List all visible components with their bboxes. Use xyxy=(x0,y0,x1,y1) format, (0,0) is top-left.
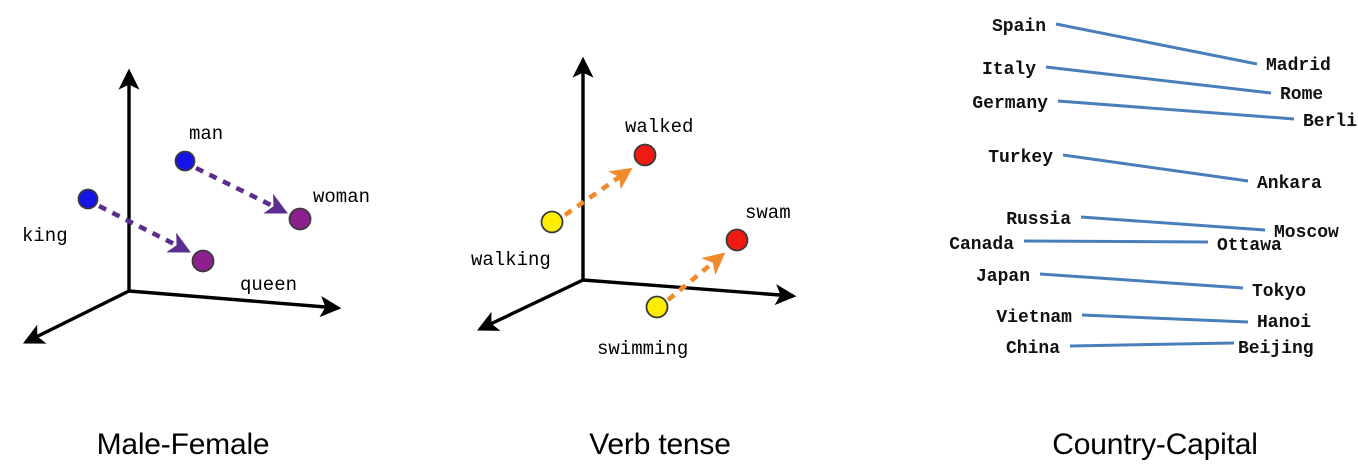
point-walking[interactable] xyxy=(542,212,563,233)
point-man[interactable] xyxy=(176,152,195,171)
mf-axes xyxy=(26,72,338,342)
link-china-beijing xyxy=(1070,343,1234,346)
label-queen: queen xyxy=(240,274,297,296)
link-russia-moscow xyxy=(1081,217,1265,230)
label-king: king xyxy=(22,225,68,247)
country-capital-plot: Spain Italy Germany Turkey Russia Canada… xyxy=(900,0,1358,400)
point-woman[interactable] xyxy=(290,209,311,230)
label-swam: swam xyxy=(745,202,791,224)
axis-depth xyxy=(480,280,583,329)
male-female-plot: king man woman queen xyxy=(0,0,450,400)
country-label-italy: Italy xyxy=(982,60,1036,80)
panel-verb-tense: walking walked swam swimming Verb tense xyxy=(440,0,890,476)
vector-swimming-to-swam xyxy=(668,256,721,300)
mf-point-labels: king man woman queen xyxy=(22,123,370,296)
point-walked[interactable] xyxy=(635,145,656,166)
capital-label-madrid: Madrid xyxy=(1266,56,1331,76)
link-italy-rome xyxy=(1046,67,1271,93)
capital-label-tokyo: Tokyo xyxy=(1252,282,1306,302)
capital-label-beijing: Beijing xyxy=(1238,339,1314,359)
axis-horizontal xyxy=(129,291,338,308)
axis-horizontal xyxy=(583,280,793,296)
country-label-germany: Germany xyxy=(972,94,1048,114)
label-man: man xyxy=(189,123,223,145)
country-label-japan: Japan xyxy=(976,267,1030,287)
vt-axes xyxy=(480,60,793,329)
vector-man-to-woman xyxy=(196,168,283,211)
mf-vectors xyxy=(99,168,283,250)
vector-king-to-queen xyxy=(99,206,186,250)
label-swimming: swimming xyxy=(597,338,688,360)
panel-male-female: king man woman queen Male-Female xyxy=(0,0,450,476)
country-label-russia: Russia xyxy=(1006,210,1071,230)
country-label-vietnam: Vietnam xyxy=(996,308,1072,328)
link-japan-tokyo xyxy=(1040,274,1243,288)
capital-label-hanoi: Hanoi xyxy=(1257,313,1311,333)
panel-title-verb-tense: Verb tense xyxy=(435,428,885,462)
point-swimming[interactable] xyxy=(647,297,668,318)
country-label-spain: Spain xyxy=(992,17,1046,37)
embedding-analogy-figure: king man woman queen Male-Female xyxy=(0,0,1358,476)
panel-country-capital: Spain Italy Germany Turkey Russia Canada… xyxy=(900,0,1358,476)
capital-label-ottawa: Ottawa xyxy=(1217,236,1282,256)
point-swam[interactable] xyxy=(727,230,748,251)
label-walking: walking xyxy=(471,249,551,271)
link-turkey-ankara xyxy=(1063,155,1248,181)
verb-tense-plot: walking walked swam swimming xyxy=(440,0,890,400)
country-label-turkey: Turkey xyxy=(988,148,1053,168)
link-vietnam-hanoi xyxy=(1082,315,1248,322)
axis-depth xyxy=(26,291,129,342)
capital-label-berlin: Berlin xyxy=(1303,112,1358,132)
point-queen[interactable] xyxy=(193,251,214,272)
cc-capital-labels: Madrid Rome Berlin Ankara Moscow Ottawa … xyxy=(1217,56,1358,359)
label-woman: woman xyxy=(313,186,370,208)
panel-title-country-capital: Country-Capital xyxy=(926,428,1358,462)
capital-label-rome: Rome xyxy=(1280,85,1323,105)
capital-label-ankara: Ankara xyxy=(1257,174,1322,194)
country-label-china: China xyxy=(1006,339,1060,359)
vector-walking-to-walked xyxy=(565,171,628,215)
link-germany-berlin xyxy=(1058,101,1294,119)
panel-title-male-female: Male-Female xyxy=(0,428,408,462)
link-spain-madrid xyxy=(1056,24,1257,64)
country-label-canada: Canada xyxy=(949,235,1014,255)
link-canada-ottawa xyxy=(1024,241,1208,242)
capital-label-moscow: Moscow xyxy=(1274,223,1339,243)
point-king[interactable] xyxy=(79,190,98,209)
label-walked: walked xyxy=(625,116,693,138)
